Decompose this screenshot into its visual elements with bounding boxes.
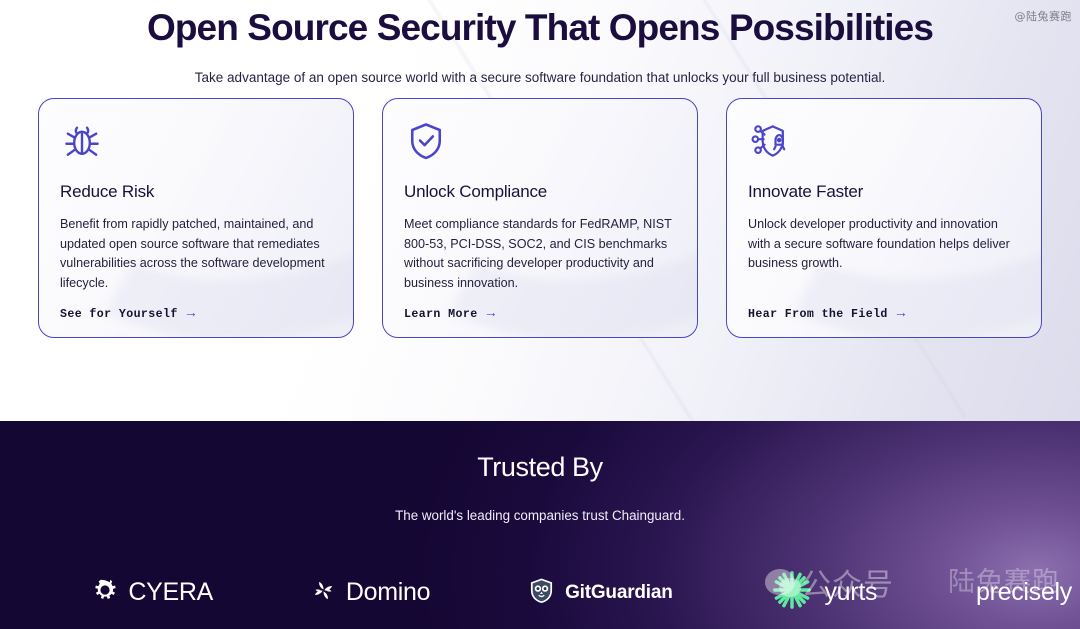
yurts-starburst-icon xyxy=(771,569,813,616)
logo-cyera[interactable]: CYERA xyxy=(93,578,213,607)
arrow-right-icon: → xyxy=(187,307,196,321)
card-cta-learn-more[interactable]: Learn More → xyxy=(404,307,676,337)
card-cta-label: Hear From the Field xyxy=(748,308,888,321)
card-cta-hear-from-the-field[interactable]: Hear From the Field → xyxy=(748,307,1020,337)
cyera-gear-icon xyxy=(93,578,117,607)
page-subtitle: Take advantage of an open source world w… xyxy=(0,68,1080,88)
arrow-right-icon: → xyxy=(897,307,906,321)
domino-swirl-icon xyxy=(312,579,335,607)
shield-check-icon xyxy=(404,119,448,163)
logo-label: GitGuardian xyxy=(565,582,673,604)
logo-strip: marx CYERA Domino xyxy=(0,569,1080,616)
arrow-right-icon: → xyxy=(487,307,496,321)
trusted-by-section: Trusted By The world's leading companies… xyxy=(0,421,1080,629)
feature-card-list: Reduce Risk Benefit from rapidly patched… xyxy=(0,98,1080,338)
card-body: Benefit from rapidly patched, maintained… xyxy=(60,215,332,307)
logo-label: Domino xyxy=(346,578,430,607)
logo-label: precisely xyxy=(976,578,1072,607)
hero-section: Open Source Security That Opens Possibil… xyxy=(0,0,1080,421)
trusted-by-subtitle: The world's leading companies trust Chai… xyxy=(0,506,1080,526)
logo-label: yurts xyxy=(824,578,877,607)
feature-card-reduce-risk[interactable]: Reduce Risk Benefit from rapidly patched… xyxy=(38,98,354,338)
card-title: Reduce Risk xyxy=(60,181,332,203)
page-title: Open Source Security That Opens Possibil… xyxy=(0,0,1080,50)
logo-label: CYERA xyxy=(128,578,213,607)
card-cta-label: See for Yourself xyxy=(60,308,178,321)
feature-card-unlock-compliance[interactable]: Unlock Compliance Meet compliance standa… xyxy=(382,98,698,338)
watermark-top-right: @陆兔赛跑 xyxy=(1015,8,1073,24)
logo-gitguardian[interactable]: GitGuardian xyxy=(529,577,673,609)
bug-icon xyxy=(60,119,104,163)
feature-card-innovate-faster[interactable]: Innovate Faster Unlock developer product… xyxy=(726,98,1042,338)
card-cta-see-for-yourself[interactable]: See for Yourself → xyxy=(60,307,332,337)
card-body: Unlock developer productivity and innova… xyxy=(748,215,1020,307)
logo-yurts[interactable]: yurts xyxy=(771,569,877,616)
card-title: Unlock Compliance xyxy=(404,181,676,203)
trusted-by-title: Trusted By xyxy=(0,421,1080,484)
logo-precisely[interactable]: precisely xyxy=(976,578,1072,607)
card-cta-label: Learn More xyxy=(404,308,478,321)
logo-domino[interactable]: Domino xyxy=(312,578,430,607)
card-title: Innovate Faster xyxy=(748,181,1020,203)
gitguardian-owl-icon xyxy=(529,577,554,609)
card-body: Meet compliance standards for FedRAMP, N… xyxy=(404,215,676,307)
network-shield-rocket-icon xyxy=(748,119,792,163)
